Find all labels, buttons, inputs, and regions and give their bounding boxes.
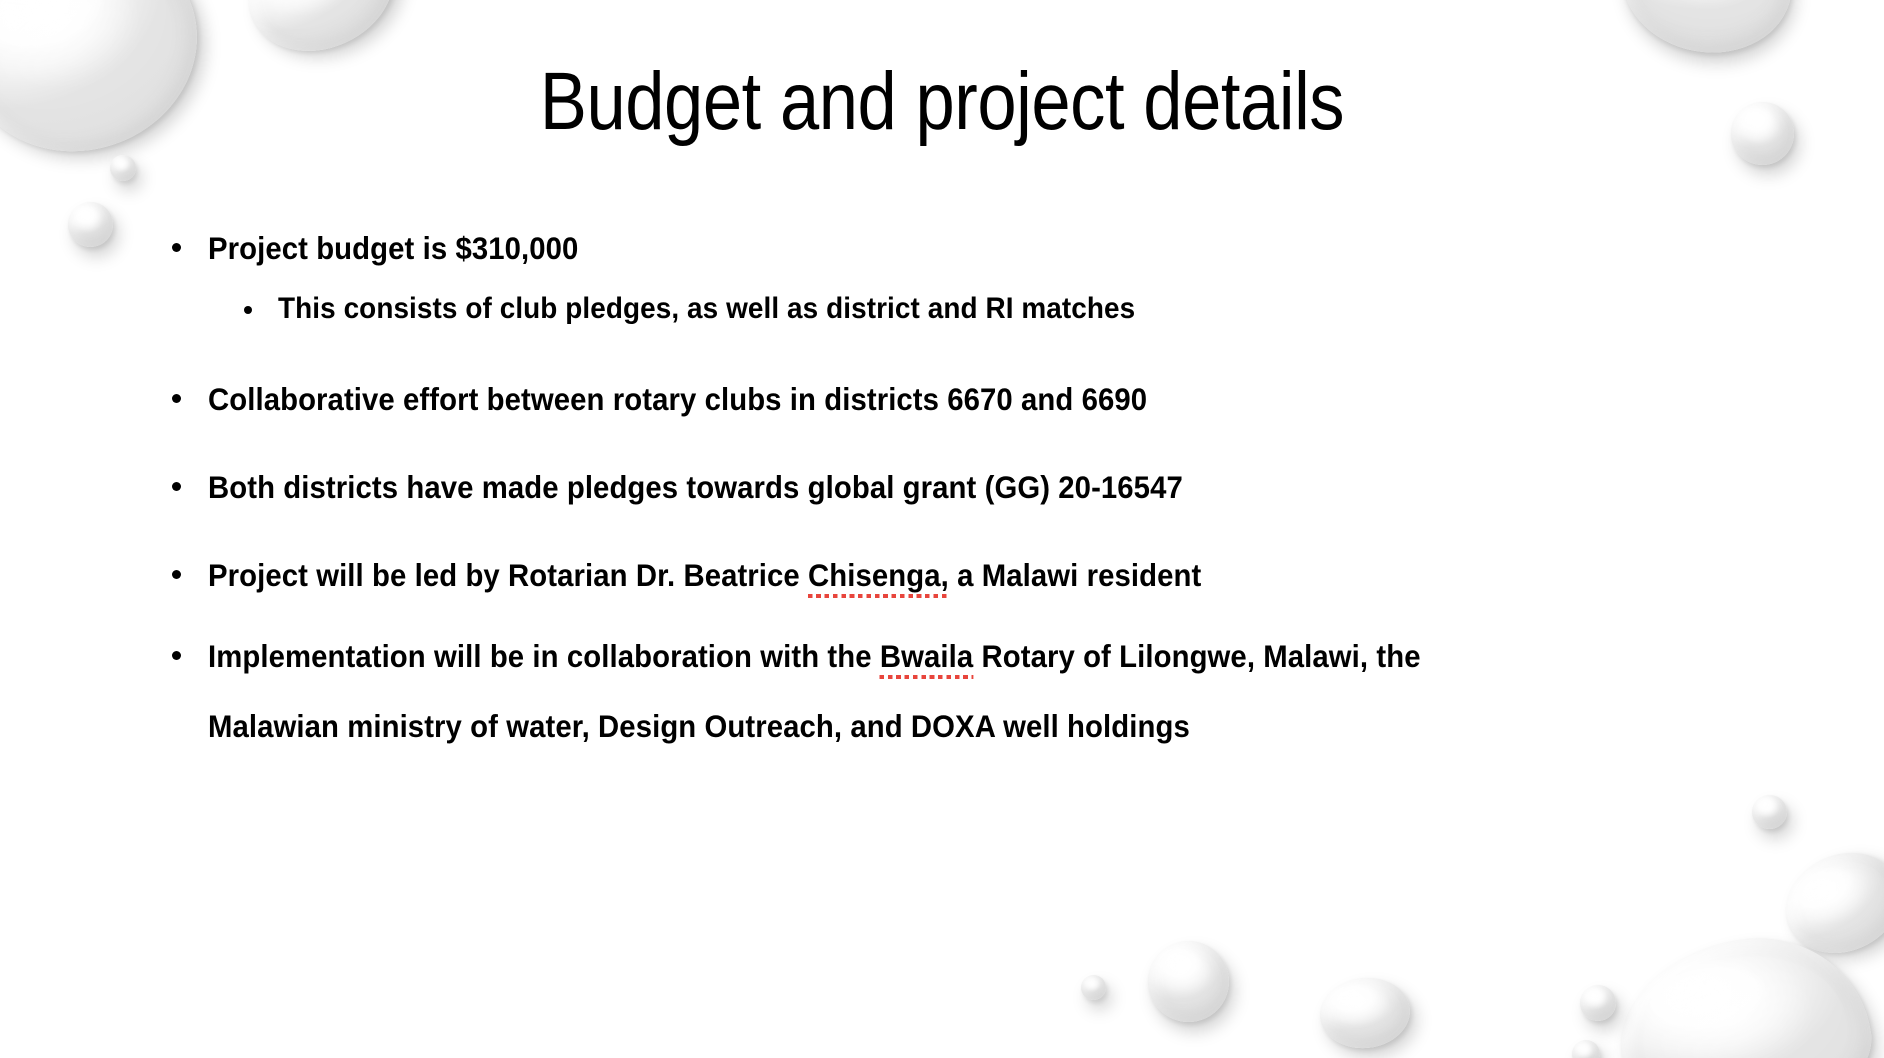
bullet-marker-icon bbox=[172, 636, 208, 676]
water-droplet-icon bbox=[1770, 835, 1884, 971]
water-droplet-icon bbox=[68, 202, 113, 247]
bullet-marker-icon bbox=[172, 379, 208, 419]
bullet-text: Implementation will be in collaboration … bbox=[208, 636, 1718, 747]
spacer bbox=[172, 331, 1832, 379]
sub-bullet-item: This consists of club pledges, as well a… bbox=[244, 290, 1832, 330]
bullet-item: Project will be led by Rotarian Dr. Beat… bbox=[172, 555, 1832, 595]
water-droplet-icon bbox=[1611, 0, 1803, 66]
water-droplet-icon bbox=[1081, 975, 1106, 1000]
bullet-item: Both districts have made pledges towards… bbox=[172, 467, 1832, 507]
sub-bullet-text: This consists of club pledges, as well a… bbox=[278, 290, 1723, 328]
water-droplet-icon bbox=[1580, 985, 1616, 1021]
bullet-item: Collaborative effort between rotary club… bbox=[172, 379, 1832, 419]
bullet-text-after: a Malawi resident bbox=[949, 557, 1201, 593]
water-droplet-icon bbox=[1148, 941, 1229, 1022]
water-droplet-icon bbox=[1752, 795, 1787, 829]
bullet-marker-icon bbox=[172, 467, 208, 507]
bullet-text-before: Implementation will be in collaboration … bbox=[208, 638, 880, 674]
water-droplet-icon bbox=[1317, 973, 1414, 1052]
bullet-text-after: Rotary of Lilongwe, Malawi, the bbox=[973, 638, 1420, 674]
bullet-marker-icon bbox=[172, 555, 208, 595]
spacer bbox=[172, 596, 1832, 636]
bullet-text: Both districts have made pledges towards… bbox=[208, 467, 1718, 507]
bullet-text-line-2: Malawian ministry of water, Design Outre… bbox=[208, 706, 1718, 746]
spacer bbox=[172, 507, 1832, 555]
bullet-text-before: Project will be led by Rotarian Dr. Beat… bbox=[208, 557, 808, 593]
water-droplet-icon bbox=[110, 155, 136, 181]
slide-body: Project budget is $310,000 This consists… bbox=[172, 228, 1832, 746]
water-droplet-icon bbox=[1572, 1040, 1600, 1058]
spacer bbox=[172, 268, 1832, 290]
misspelled-word: Chisenga, bbox=[808, 557, 949, 593]
bullet-text: Project budget is $310,000 bbox=[208, 228, 1718, 268]
water-droplet-icon bbox=[1608, 924, 1882, 1058]
bullet-text: Project will be led by Rotarian Dr. Beat… bbox=[208, 555, 1718, 595]
bullet-item: Project budget is $310,000 bbox=[172, 228, 1832, 268]
spacer bbox=[172, 419, 1832, 467]
bullet-item: Implementation will be in collaboration … bbox=[172, 636, 1832, 747]
slide: Budget and project details Project budge… bbox=[0, 0, 1884, 1058]
bullet-marker-icon bbox=[244, 290, 278, 330]
slide-title: Budget and project details bbox=[132, 58, 1752, 147]
bullet-marker-icon bbox=[172, 228, 208, 268]
bullet-text-line-1: Implementation will be in collaboration … bbox=[208, 636, 1718, 676]
bullet-text: Collaborative effort between rotary club… bbox=[208, 379, 1718, 419]
misspelled-word: Bwaila bbox=[880, 638, 973, 674]
